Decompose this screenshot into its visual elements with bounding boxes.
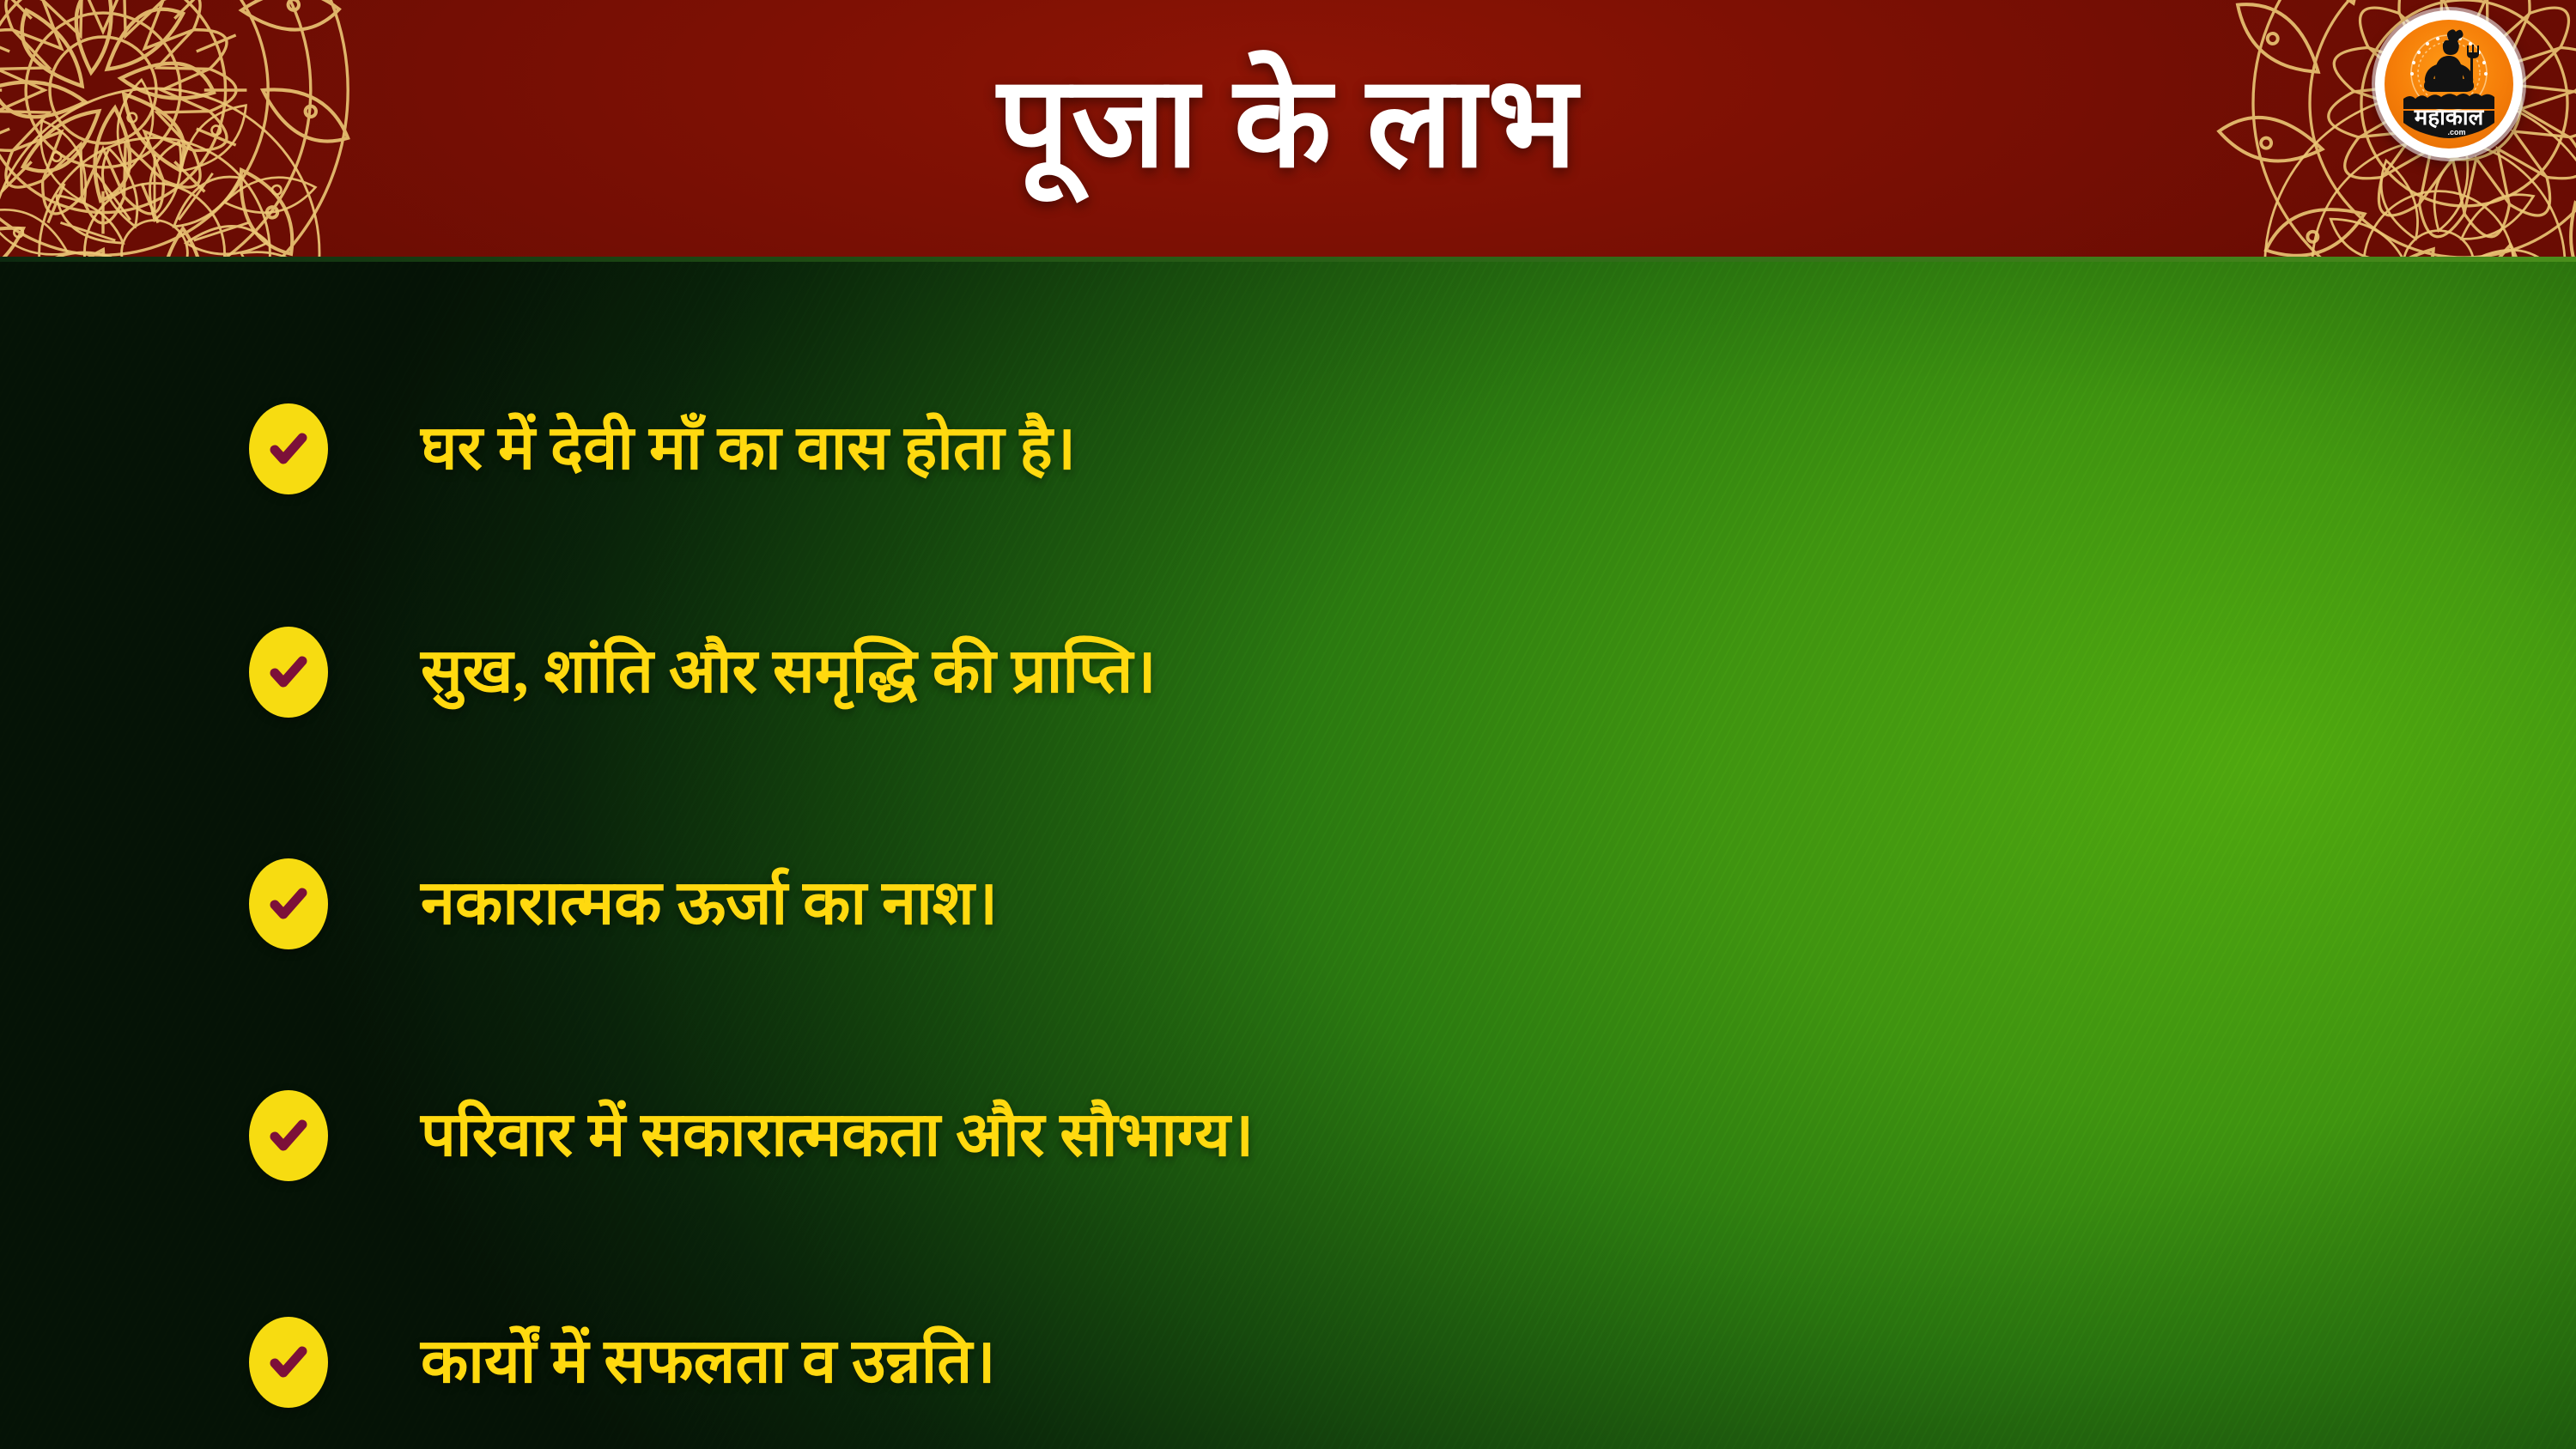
page-title: पूजा के लाभ [0,0,2576,262]
list-item-label: घर में देवी माँ का वास होता है। [421,415,1076,482]
check-circle-icon [249,627,328,718]
list-item: कार्यों में सफलता व उन्नति। [249,1311,996,1414]
svg-text:महाकाल: महाकाल [2414,105,2485,130]
list-item-label: सुख, शांति और समृद्धि की प्राप्ति। [421,638,1157,706]
benefits-panel: घर में देवी माँ का वास होता है। सुख, शां… [0,262,2576,1449]
check-circle-icon [249,1090,328,1181]
shiva-silhouette-icon: महाकाल .com [2385,20,2513,149]
mahakal-logo[interactable]: महाकाल .com [2375,10,2523,158]
check-circle-icon [249,1317,328,1408]
list-item: परिवार में सकारात्मकता और सौभाग्य। [249,1084,1254,1187]
header-banner: पूजा के लाभ [0,0,2576,262]
list-item-label: कार्यों में सफलता व उन्नति। [421,1328,996,1396]
check-circle-icon [249,403,328,494]
list-item-label: परिवार में सकारात्मकता और सौभाग्य। [421,1101,1254,1169]
list-item-label: नकारात्मक ऊर्जा का नाश। [421,870,998,937]
benefits-list: घर में देवी माँ का वास होता है। सुख, शां… [0,262,2576,1449]
logo-disc: महाकाल .com [2385,20,2513,149]
svg-text:.com: .com [2447,128,2465,136]
list-item: सुख, शांति और समृद्धि की प्राप्ति। [249,621,1157,724]
check-circle-icon [249,858,328,949]
list-item: घर में देवी माँ का वास होता है। [249,397,1076,500]
list-item: नकारात्मक ऊर्जा का नाश। [249,852,998,955]
poster-canvas: पूजा के लाभ [0,0,2576,1449]
